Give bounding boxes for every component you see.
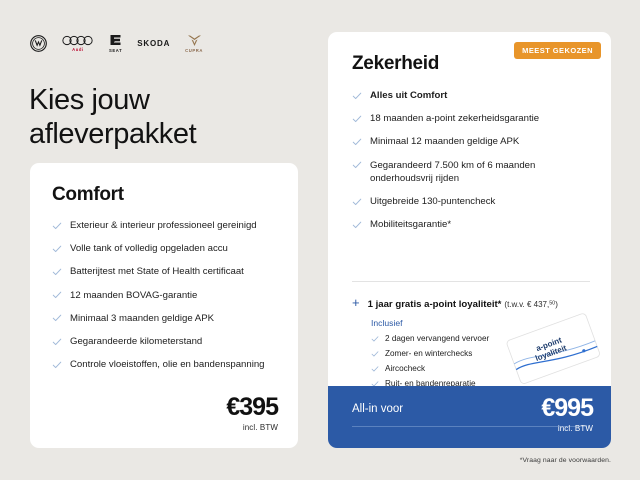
inclusief-item: Zomer- en winterchecks: [371, 349, 551, 360]
comfort-title: Comfort: [52, 184, 124, 206]
feature-label: Minimaal 12 maanden geldige APK: [370, 135, 519, 148]
inclusief-item: Aircocheck: [371, 364, 551, 375]
check-icon: [352, 197, 362, 207]
comfort-feature-item: 12 maanden BOVAG-garantie: [52, 289, 280, 302]
loyalty-value-prefix: (t.w.v. € 437,: [504, 300, 549, 309]
feature-label: Gegarandeerd 7.500 km of 6 maanden onder…: [370, 159, 592, 185]
zekerheid-price-currency: €: [541, 394, 554, 422]
volkswagen-logo: [30, 35, 47, 52]
check-icon: [52, 221, 62, 231]
loyalty-value: (t.w.v. € 437,50): [504, 300, 557, 309]
comfort-price-block: €395 incl. BTW: [226, 395, 278, 432]
comfort-feature-item: Controle vloeistoffen, olie en bandenspa…: [52, 358, 280, 371]
inclusief-label: 2 dagen vervangend vervoer: [385, 334, 489, 345]
seat-wordmark: SEAT: [109, 48, 122, 53]
page-title-line2: afleverpakket: [29, 117, 299, 151]
check-icon: [52, 313, 62, 323]
allin-label: All-in voor: [352, 403, 403, 415]
comfort-feature-item: Minimaal 3 maanden geldige APK: [52, 312, 280, 325]
comfort-price-note: incl. BTW: [226, 423, 278, 432]
zekerheid-price-note: incl. BTW: [541, 424, 593, 433]
cupra-wordmark: CUPRA: [185, 48, 203, 53]
inclusief-list: 2 dagen vervangend vervoerZomer- en wint…: [371, 334, 551, 390]
brand-logo-bar: Audi SEAT SKODA CUPRA: [30, 33, 203, 53]
loyalty-row: + 1 jaar gratis a-point loyaliteit*(t.w.…: [352, 294, 602, 312]
audi-wordmark: Audi: [72, 47, 84, 52]
check-icon: [371, 335, 379, 343]
skoda-logo: SKODA: [137, 39, 170, 48]
page-title-line1: Kies jouw: [29, 83, 299, 117]
cupra-logo: CUPRA: [185, 34, 203, 53]
loyalty-text-wrap: 1 jaar gratis a-point loyaliteit*(t.w.v.…: [368, 294, 558, 312]
check-icon: [371, 365, 379, 373]
zekerheid-price-block: €995 incl. BTW: [541, 396, 593, 433]
feature-label: Volle tank of volledig opgeladen accu: [70, 242, 228, 255]
feature-label: Minimaal 3 maanden geldige APK: [70, 312, 214, 325]
plus-icon: +: [352, 296, 360, 309]
comfort-feature-item: Volle tank of volledig opgeladen accu: [52, 242, 280, 255]
comfort-price: €395: [226, 395, 278, 420]
feature-label: Gegarandeerde kilometerstand: [70, 335, 202, 348]
zekerheid-feature-item: Gegarandeerd 7.500 km of 6 maanden onder…: [352, 159, 592, 185]
inclusief-block: Inclusief 2 dagen vervangend vervoerZome…: [371, 318, 551, 395]
comfort-feature-list: Exterieur & interieur professioneel gere…: [52, 219, 280, 382]
check-icon: [352, 160, 362, 170]
zekerheid-price-value: 995: [554, 394, 593, 422]
check-icon: [52, 244, 62, 254]
feature-label: Batterijtest met State of Health certifi…: [70, 265, 244, 278]
zekerheid-title: Zekerheid: [352, 53, 439, 75]
package-card-zekerheid[interactable]: MEEST GEKOZEN Zekerheid Alles uit Comfor…: [328, 32, 611, 448]
zekerheid-feature-list: Alles uit Comfort18 maanden a-point zeke…: [352, 89, 592, 242]
inclusief-title: Inclusief: [371, 318, 551, 328]
feature-label: Alles uit Comfort: [370, 89, 447, 102]
check-icon: [371, 350, 379, 358]
disclaimer-text: *Vraag naar de voorwaarden.: [520, 457, 611, 464]
loyalty-value-suffix: ): [555, 300, 558, 309]
feature-label: Controle vloeistoffen, olie en bandenspa…: [70, 358, 265, 371]
page-title: Kies jouw afleverpakket: [29, 83, 299, 151]
check-icon: [52, 337, 62, 347]
check-icon: [52, 290, 62, 300]
check-icon: [52, 360, 62, 370]
audi-logo: Audi: [62, 35, 94, 52]
inclusief-label: Aircocheck: [385, 364, 425, 375]
check-icon: [52, 267, 62, 277]
divider: [352, 281, 590, 282]
seat-logo: SEAT: [109, 33, 122, 53]
feature-label: 12 maanden BOVAG-garantie: [70, 289, 197, 302]
feature-label: Mobiliteitsgarantie*: [370, 218, 451, 231]
zekerheid-feature-item: Alles uit Comfort: [352, 89, 592, 102]
feature-label: 18 maanden a-point zekerheidsgarantie: [370, 112, 539, 125]
package-card-comfort[interactable]: Comfort Exterieur & interieur profession…: [30, 163, 298, 448]
feature-label: Uitgebreide 130-puntencheck: [370, 195, 495, 208]
check-icon: [352, 114, 362, 124]
comfort-feature-item: Batterijtest met State of Health certifi…: [52, 265, 280, 278]
comfort-feature-item: Gegarandeerde kilometerstand: [52, 335, 280, 348]
comfort-price-currency: €: [226, 393, 239, 421]
inclusief-label: Zomer- en winterchecks: [385, 349, 472, 360]
check-icon: [352, 91, 362, 101]
feature-label: Exterieur & interieur professioneel gere…: [70, 219, 257, 232]
zekerheid-feature-item: Minimaal 12 maanden geldige APK: [352, 135, 592, 148]
zekerheid-price: €995: [541, 396, 593, 421]
zekerheid-feature-item: Uitgebreide 130-puntencheck: [352, 195, 592, 208]
skoda-wordmark: SKODA: [137, 39, 170, 48]
check-icon: [352, 220, 362, 230]
zekerheid-feature-item: Mobiliteitsgarantie*: [352, 218, 592, 231]
inclusief-item: 2 dagen vervangend vervoer: [371, 334, 551, 345]
check-icon: [352, 137, 362, 147]
loyalty-label: 1 jaar gratis a-point loyaliteit*: [368, 299, 502, 310]
zekerheid-footer-bar: All-in voor €995 incl. BTW: [328, 386, 611, 448]
status-badge-meest-gekozen: MEEST GEKOZEN: [514, 42, 601, 59]
comfort-feature-item: Exterieur & interieur professioneel gere…: [52, 219, 280, 232]
zekerheid-feature-item: 18 maanden a-point zekerheidsgarantie: [352, 112, 592, 125]
comfort-price-value: 395: [239, 393, 278, 421]
